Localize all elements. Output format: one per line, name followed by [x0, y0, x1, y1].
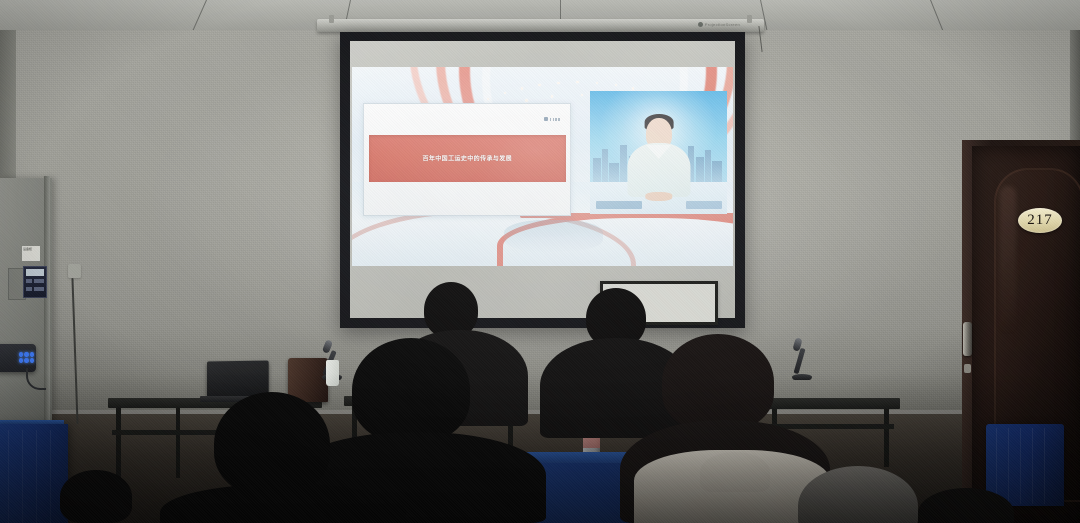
housing-bracket: [747, 15, 752, 23]
door-lock-icon[interactable]: [964, 364, 971, 373]
av-table-leg: [116, 408, 121, 482]
slide-title-band: 百年中国工运史中的传承与发展: [369, 135, 567, 182]
right-table-leg: [884, 409, 889, 467]
door-handle[interactable]: [963, 322, 972, 356]
anchor-hands: [645, 192, 672, 201]
news-anchor-video: [590, 91, 727, 214]
cup-left[interactable]: [326, 360, 339, 386]
attendee-head: [214, 392, 330, 496]
attendee-head: [662, 334, 774, 430]
presenter-laptop[interactable]: [207, 361, 269, 398]
control-panel-button[interactable]: [34, 287, 44, 291]
wall-socket[interactable]: [68, 264, 81, 278]
studio-floor-shadow: [504, 220, 603, 252]
broadcaster-logo-icon: [544, 117, 560, 121]
led-indicator-icon: [19, 352, 34, 363]
attendee-head: [60, 470, 132, 523]
screen-surface: 百年中国工运史中的传承与发展: [350, 41, 735, 318]
control-panel-button[interactable]: [34, 279, 44, 283]
conference-room-photo: ProjectionScreen: [0, 0, 1080, 523]
av-table-leg: [176, 408, 180, 478]
door-highlight: [1000, 186, 1016, 336]
slide-title-text: 百年中国工运史中的传承与发展: [369, 154, 567, 163]
control-panel-button[interactable]: [26, 279, 32, 283]
attendee-head: [352, 338, 470, 442]
anchor-collar: [646, 145, 671, 159]
control-panel-button[interactable]: [26, 287, 32, 291]
screen-brand-logo: ProjectionScreen: [698, 22, 740, 27]
right-table-top: [760, 398, 900, 409]
slide-panel: 百年中国工运史中的传承与发展: [363, 103, 571, 216]
left-skirted-table: [0, 424, 68, 523]
cabinet-label: 设备柜: [22, 246, 40, 261]
door-number-plate: 217: [1018, 208, 1062, 233]
broadcast-lower-third: [596, 201, 643, 210]
brand-mark-icon: [698, 22, 703, 27]
broadcast-lower-third-right: [686, 201, 722, 210]
anchor-body: [627, 143, 690, 197]
control-panel-display: [26, 269, 44, 276]
screen-housing[interactable]: ProjectionScreen: [317, 19, 764, 32]
wall-control-panel[interactable]: [23, 266, 47, 298]
hood: [700, 452, 770, 492]
housing-bracket: [329, 15, 334, 23]
cabinet-edge: [44, 176, 50, 430]
projected-image: 百年中国工运史中的传承与发展: [352, 67, 733, 266]
